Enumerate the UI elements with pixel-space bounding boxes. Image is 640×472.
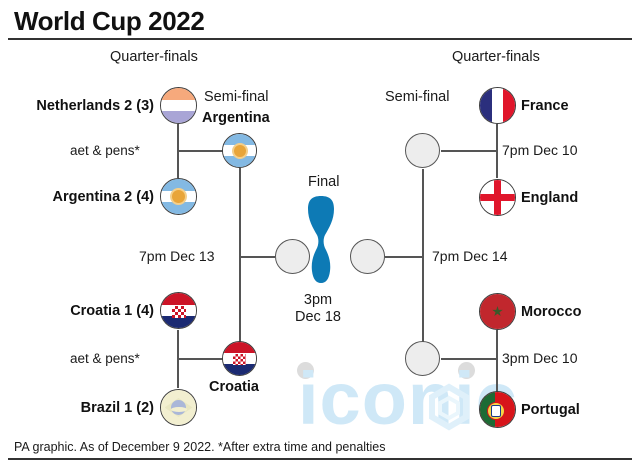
match-time-qf-top-right: 7pm Dec 10	[502, 142, 577, 158]
round-label-quarter-finals-left: Quarter-finals	[110, 49, 198, 65]
sf-node-right-top[interactable]	[405, 133, 440, 168]
watermark-dot-left	[297, 362, 314, 379]
team-label-morocco: Morocco	[521, 304, 581, 320]
team-node-croatia-sf[interactable]	[222, 341, 257, 376]
team-label-argentina-qf: Argentina 2 (4)	[6, 189, 154, 205]
team-label-portugal: Portugal	[521, 402, 580, 418]
round-label-quarter-finals-right: Quarter-finals	[452, 49, 540, 65]
bracket-line-sf-left-top-vertical	[239, 168, 241, 257]
match-note-qf-bottom-left: aet & pens*	[70, 351, 140, 366]
final-date-value: Dec 18	[283, 309, 353, 326]
bracket-line-sf-right-top-vertical	[422, 169, 424, 257]
footer-divider	[8, 458, 632, 460]
bracket-line-qf-top-left-to-sf	[177, 150, 223, 152]
final-match-time: 3pm Dec 18	[283, 292, 353, 326]
france-flag-icon	[480, 88, 515, 123]
page-title: World Cup 2022	[14, 6, 204, 37]
round-label-semi-final-right: Semi-final	[385, 89, 449, 105]
team-node-croatia-qf[interactable]	[160, 292, 197, 329]
argentina-flag-icon	[161, 179, 196, 214]
england-flag-icon	[480, 180, 515, 215]
team-label-croatia-qf: Croatia 1 (4)	[6, 303, 154, 319]
team-node-england[interactable]	[479, 179, 516, 216]
croatia-flag-icon-sf	[223, 342, 256, 375]
team-node-portugal[interactable]	[479, 391, 516, 428]
match-time-sf-left: 7pm Dec 13	[139, 248, 214, 264]
bracket-line-qf-top-right-to-sf	[441, 150, 497, 152]
trophy-icon	[303, 195, 339, 290]
team-node-france[interactable]	[479, 87, 516, 124]
croatia-flag-icon	[161, 293, 196, 328]
round-label-final: Final	[308, 174, 339, 190]
bracket-line-sf-right-bottom-vertical	[422, 256, 424, 342]
match-time-qf-bottom-right: 3pm Dec 10	[502, 350, 577, 366]
bracket-line-sf-left-bottom-vertical	[239, 256, 241, 342]
team-label-france: France	[521, 98, 569, 114]
argentina-flag-icon-sf	[223, 134, 256, 167]
team-node-netherlands[interactable]	[160, 87, 197, 124]
team-label-england: England	[521, 190, 578, 206]
team-label-netherlands: Netherlands 2 (3)	[6, 98, 154, 114]
team-label-brazil-qf: Brazil 1 (2)	[6, 400, 154, 416]
title-divider	[8, 38, 632, 40]
bracket-line-qf-bottom-right-vertical	[496, 330, 498, 392]
bracket-line-qf-bottom-left-to-sf	[177, 358, 223, 360]
portugal-flag-icon	[480, 392, 515, 427]
team-label-argentina-sf: Argentina	[202, 110, 270, 126]
match-time-sf-right: 7pm Dec 14	[432, 248, 507, 264]
team-node-argentina-qf[interactable]	[160, 178, 197, 215]
round-label-semi-final-left: Semi-final	[204, 89, 268, 105]
watermark-dot-right	[458, 362, 475, 379]
bracket-line-sf-left-to-final	[239, 256, 275, 258]
match-note-qf-top-left: aet & pens*	[70, 143, 140, 158]
team-node-brazil-qf[interactable]	[160, 389, 197, 426]
bracket-line-qf-bottom-right-to-sf	[441, 358, 497, 360]
final-time-value: 3pm	[283, 292, 353, 309]
team-label-croatia-sf: Croatia	[209, 379, 259, 395]
watermark-hexagon-icon	[420, 378, 478, 436]
netherlands-flag-icon	[161, 88, 196, 123]
final-node-right[interactable]	[350, 239, 385, 274]
team-node-morocco[interactable]	[479, 293, 516, 330]
watermark: iconic	[298, 360, 640, 442]
morocco-flag-icon	[480, 294, 515, 329]
sf-node-right-bottom[interactable]	[405, 341, 440, 376]
team-node-argentina-sf[interactable]	[222, 133, 257, 168]
brazil-flag-icon	[161, 390, 196, 425]
footer-credit: PA graphic. As of December 9 2022. *Afte…	[14, 440, 386, 454]
bracket-line-sf-right-to-final	[385, 256, 423, 258]
